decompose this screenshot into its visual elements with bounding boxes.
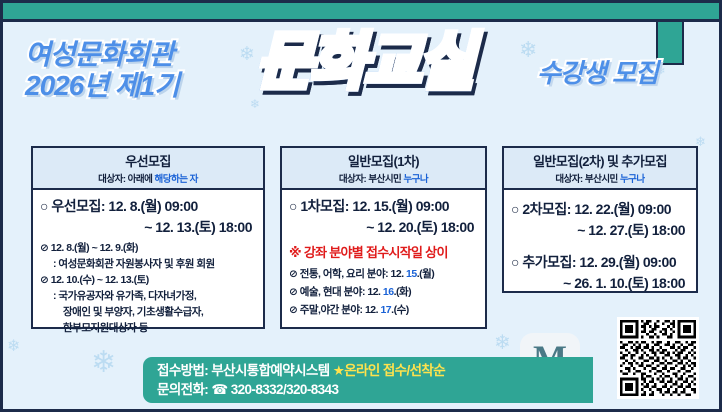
eligibility-desc: 한부모지원대상자 등 xyxy=(40,320,256,335)
category-schedule-row: ⊘ 전통, 어학, 요리 분야: 12. 15.(월) xyxy=(289,266,478,281)
top-teal-bar xyxy=(0,2,722,22)
warning-notice: ※ 강좌 분야별 접수시작일 상이 xyxy=(289,242,478,261)
check-circle-icon: ⊘ xyxy=(289,286,297,298)
qr-code-graphic xyxy=(620,320,696,396)
schedule-main-line-2: ~ 12. 13.(토) 18:00 xyxy=(40,217,256,237)
check-circle-icon: ⊘ xyxy=(40,274,48,286)
check-circle-icon: ⊘ xyxy=(289,304,297,316)
category-label: 전통, 어학, 요리 분야: 12. xyxy=(300,268,406,280)
general-recruitment-first-box: 일반모집(1차) 대상자: 부산시민 누구나 ○ 1차모집: 12. 15.(월… xyxy=(280,146,487,329)
category-schedule-row: ⊘ 주말,야간 분야: 12. 17.(수) xyxy=(289,302,478,317)
schedule-main-line: ○ 우선모집: 12. 8.(월) 09:00 xyxy=(40,196,256,216)
category-day: 17 xyxy=(380,304,391,316)
organization-title: 여성문화회관 2026년 제1기 xyxy=(25,39,179,101)
check-circle-icon: ⊘ xyxy=(40,242,48,254)
box-heading: 일반모집(2차) 및 추가모집 xyxy=(506,151,694,170)
category-label: 주말,야간 분야: 12. xyxy=(300,304,381,316)
organization-title-line2: 2026년 제1기 xyxy=(25,70,179,101)
schedule-main-line-3: ○ 추가모집: 12. 29.(월) 09:00 xyxy=(511,252,689,272)
category-suffix: .(월) xyxy=(417,268,435,280)
eligibility-item: ⊘ 12. 8.(월) ~ 12. 9.(화) xyxy=(40,240,256,255)
target-prefix: 대상자: 부산시민 xyxy=(339,174,404,185)
schedule-main-line: ○ 2차모집: 12. 22.(월) 09:00 xyxy=(511,199,689,219)
box-body: ○ 2차모집: 12. 22.(월) 09:00 ~ 12. 27.(토) 18… xyxy=(504,190,696,300)
online-firstcome-highlight: 온라인 접수/선착순 xyxy=(344,363,445,378)
subtitle-recruitment: 수강생 모집 xyxy=(537,59,658,87)
target-prefix: 대상자: 아래에 xyxy=(98,174,154,185)
main-title: 문화교실 xyxy=(256,31,472,95)
schedule-main-line-4: ~ 26. 1. 10.(토) 18:00 xyxy=(511,273,689,293)
box-header: 일반모집(1차) 대상자: 부산시민 누구나 xyxy=(282,148,485,190)
target-highlight: 해당하는 자 xyxy=(155,174,198,185)
organization-title-line1: 여성문화회관 xyxy=(25,39,174,70)
target-highlight: 누구나 xyxy=(403,174,428,185)
eligibility-desc: : 여성문화회관 자원봉사자 및 후원 회원 xyxy=(40,256,256,271)
eligibility-date: 12. 8.(월) ~ 12. 9.(화) xyxy=(51,242,138,254)
box-body: ○ 우선모집: 12. 8.(월) 09:00 ~ 12. 13.(토) 18:… xyxy=(33,190,263,340)
eligibility-desc: 장애인 및 부양자, 기초생활수급자, xyxy=(40,304,256,319)
box-body: ○ 1차모집: 12. 15.(월) 09:00 ~ 12. 20.(토) 18… xyxy=(282,190,485,324)
snowflake-icon: ❄ xyxy=(7,339,20,355)
footer-line-2: 문의전화: ☎ 320-8332/320-8343 xyxy=(157,380,593,399)
category-schedule-row: ⊘ 예술, 현대 분야: 12. 16.(화) xyxy=(289,284,478,299)
category-suffix: .(화) xyxy=(394,286,412,298)
footer-line-1: 접수방법: 부산시통합예약시스템 ★온라인 접수/선착순 xyxy=(157,361,593,380)
poster-root: ❄ ❄ ❄ ❄ ❄ ❄ ❄ ❄ ❄ 여성문화회관 2026년 제1기 문화교실 … xyxy=(0,0,722,412)
star-icon: ★ xyxy=(333,363,345,378)
box-target-audience: 대상자: 부산시민 누구나 xyxy=(506,171,694,185)
target-prefix: 대상자: 부산시민 xyxy=(555,174,620,185)
box-heading: 일반모집(1차) xyxy=(284,151,483,170)
category-label: 예술, 현대 분야: 12. xyxy=(300,286,383,298)
application-method-label: 접수방법: 부산시통합예약시스템 xyxy=(157,363,333,378)
header-banner: 여성문화회관 2026년 제1기 문화교실 수강생 모집 xyxy=(3,25,722,143)
qr-code[interactable] xyxy=(617,317,699,399)
eligibility-item: ⊘ 12. 10.(수) ~ 12. 13.(토) xyxy=(40,272,256,287)
category-day: 15 xyxy=(406,268,417,280)
general-second-and-additional-box: 일반모집(2차) 및 추가모집 대상자: 부산시민 누구나 ○ 2차모집: 12… xyxy=(502,146,698,293)
priority-recruitment-box: 우선모집 대상자: 아래에 해당하는 자 ○ 우선모집: 12. 8.(월) 0… xyxy=(31,146,265,329)
check-circle-icon: ⊘ xyxy=(289,268,297,280)
target-highlight: 누구나 xyxy=(620,174,645,185)
box-heading: 우선모집 xyxy=(35,151,261,170)
snowflake-icon: ❄ xyxy=(494,333,511,353)
eligibility-desc: : 국가유공자와 유가족, 다자녀가정, xyxy=(40,288,256,303)
box-target-audience: 대상자: 부산시민 누구나 xyxy=(284,171,483,185)
box-header: 일반모집(2차) 및 추가모집 대상자: 부산시민 누구나 xyxy=(504,148,696,190)
eligibility-date: 12. 10.(수) ~ 12. 13.(토) xyxy=(51,274,149,286)
category-suffix: .(수) xyxy=(391,304,409,316)
footer-ribbon: 접수방법: 부산시통합예약시스템 ★온라인 접수/선착순 문의전화: ☎ 320… xyxy=(143,357,593,403)
schedule-main-line: ○ 1차모집: 12. 15.(월) 09:00 xyxy=(289,196,478,216)
schedule-main-line-2: ~ 12. 27.(토) 18:00 xyxy=(511,220,689,240)
box-target-audience: 대상자: 아래에 해당하는 자 xyxy=(35,171,261,185)
snowflake-icon: ❄ xyxy=(91,348,116,378)
category-day: 16 xyxy=(383,286,394,298)
box-header: 우선모집 대상자: 아래에 해당하는 자 xyxy=(33,148,263,190)
schedule-main-line-2: ~ 12. 20.(토) 18:00 xyxy=(289,217,478,237)
